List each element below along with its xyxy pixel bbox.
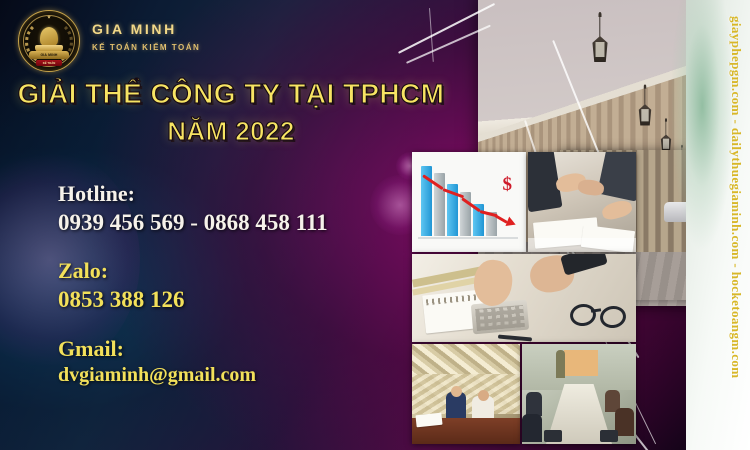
logo-banner-text: GIA MINH <box>29 51 69 59</box>
table-surface <box>528 238 636 252</box>
zalo-value[interactable]: 0853 388 126 <box>58 285 458 315</box>
pen-shape <box>498 335 532 342</box>
street-lamp-icon <box>590 16 610 90</box>
headline-line2: NĂM 2022 <box>0 117 462 146</box>
logo-sub-text: KẾ TOÁN <box>36 60 62 66</box>
brand-name: GIA MINH <box>92 21 200 37</box>
paper-pile <box>412 374 520 414</box>
suit-shape <box>597 152 636 202</box>
company-logo: GIA MINH KẾ TOÁN <box>18 10 80 72</box>
head-shape <box>478 390 489 401</box>
eyeglasses-icon <box>599 304 628 329</box>
accounting-calculator-image <box>412 254 636 342</box>
contact-block: Hotline: 0939 456 569 - 0868 458 111 Zal… <box>58 180 458 408</box>
zalo-group: Zalo: 0853 388 126 <box>58 257 458 314</box>
gmail-label: Gmail: <box>58 335 458 363</box>
standing-person <box>556 350 565 378</box>
banner-canvas: GIA MINH KẾ TOÁN GIA MINH KẾ TOÁN KIỂM T… <box>0 0 750 450</box>
smartphone-shape <box>560 254 608 276</box>
logo-figure-icon <box>40 27 58 47</box>
business-meeting-image <box>528 152 636 252</box>
street-lamp-icon <box>638 88 653 140</box>
seated-person <box>522 414 542 442</box>
trend-arrow-head <box>505 217 517 230</box>
photo-collage: $ <box>412 152 636 444</box>
hotline-value[interactable]: 0939 456 569 - 0868 458 111 <box>58 208 458 238</box>
headline-line1: GIẢI THỂ CÔNG TY TẠI TPHCM <box>0 78 462 109</box>
whiteboard <box>564 350 598 376</box>
gmail-group: Gmail: dvgiaminh@gmail.com <box>58 335 458 389</box>
paperwork-overload-image <box>412 344 520 444</box>
brand-subtitle: KẾ TOÁN KIỂM TOÁN <box>92 43 200 52</box>
hand-shape <box>600 198 633 222</box>
head-shape <box>451 386 462 397</box>
page-title: GIẢI THỂ CÔNG TY TẠI TPHCM NĂM 2022 <box>0 78 462 146</box>
light-streak <box>429 8 434 62</box>
eyeglasses-icon <box>569 302 598 327</box>
chart-baseline <box>418 237 518 239</box>
green-glow-decor <box>666 0 732 330</box>
calculator-keys <box>475 305 525 331</box>
declining-chart-image: $ <box>412 152 526 252</box>
brand-block: GIA MINH KẾ TOÁN KIỂM TOÁN <box>92 21 200 52</box>
chair <box>544 430 562 442</box>
website-watermark: giayphepgm.com - dailythuegiaminh.com - … <box>728 16 744 379</box>
seated-person <box>526 392 542 416</box>
dollar-sign-icon: $ <box>503 174 513 196</box>
hotline-group: Hotline: 0939 456 569 - 0868 458 111 <box>58 180 458 237</box>
chair <box>600 430 618 442</box>
gmail-value[interactable]: dvgiaminh@gmail.com <box>58 362 458 388</box>
eyeglasses-bridge <box>591 308 601 312</box>
hotline-label: Hotline: <box>58 180 458 208</box>
conference-room-image <box>522 344 636 444</box>
zalo-label: Zalo: <box>58 257 458 285</box>
